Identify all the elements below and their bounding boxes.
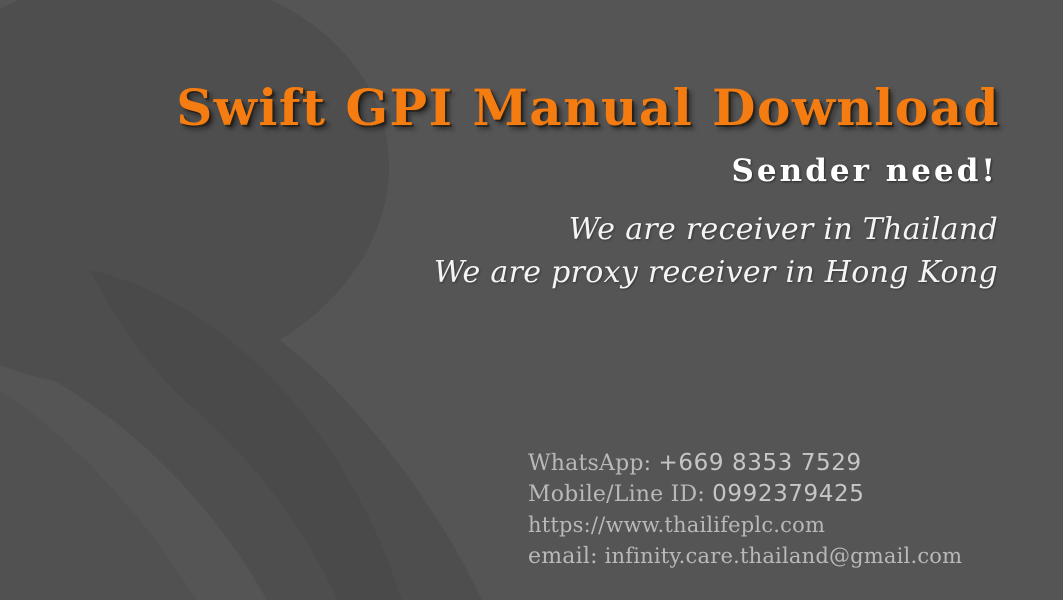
page-title: Swift GPI Manual Download bbox=[0, 78, 1000, 137]
contact-block: WhatsApp: +669 8353 7529 Mobile/Line ID:… bbox=[528, 448, 998, 572]
contact-website-link[interactable]: https://www.thailifeplc.com bbox=[528, 510, 998, 541]
contact-email-value[interactable]: infinity.care.thailand@gmail.com bbox=[605, 544, 963, 568]
contact-mobile: Mobile/Line ID: 0992379425 bbox=[528, 479, 998, 510]
script-line-thailand: We are receiver in Thailand bbox=[0, 208, 998, 251]
slide-canvas: Swift GPI Manual Download Sender need! W… bbox=[0, 0, 1063, 600]
contact-email-label: email: bbox=[528, 544, 598, 569]
script-text-block: We are receiver in Thailand We are proxy… bbox=[0, 208, 998, 294]
contact-whatsapp-value[interactable]: +669 8353 7529 bbox=[659, 450, 862, 476]
subtitle-sender-need: Sender need! bbox=[0, 153, 998, 189]
contact-mobile-label: Mobile/Line ID: bbox=[528, 482, 705, 507]
contact-whatsapp: WhatsApp: +669 8353 7529 bbox=[528, 448, 998, 479]
contact-email: email: infinity.care.thailand@gmail.com bbox=[528, 541, 998, 572]
contact-whatsapp-label: WhatsApp: bbox=[528, 451, 651, 476]
script-line-hong-kong: We are proxy receiver in Hong Kong bbox=[0, 251, 998, 294]
contact-mobile-value[interactable]: 0992379425 bbox=[712, 481, 864, 507]
